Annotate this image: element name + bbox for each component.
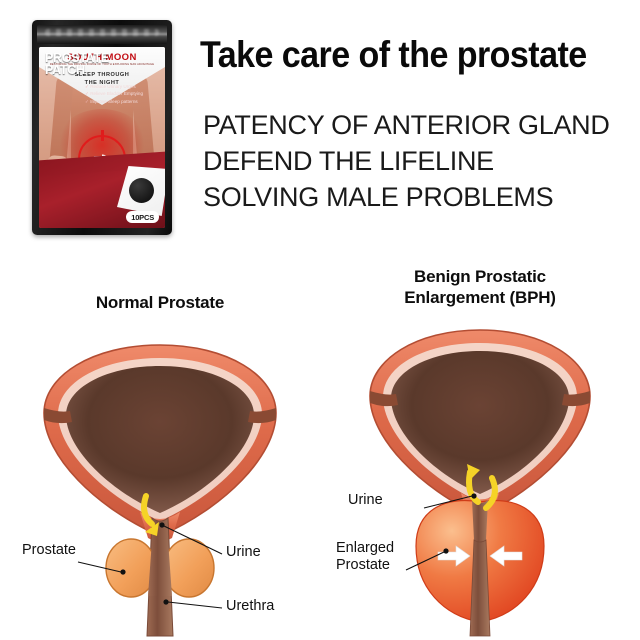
patch-medicated-dot <box>129 178 154 203</box>
package-front-artwork: SOUTH MOON RESTORING THE DRIVING FORCE O… <box>39 47 165 228</box>
benefit-item: Reduce Urinary Urges <box>85 83 143 91</box>
subheadline-line: PATENCY OF ANTERIOR GLAND <box>203 108 633 144</box>
page-title: Take care of the prostate <box>200 36 590 73</box>
subheadline-block: PATENCY OF ANTERIOR GLAND DEFEND THE LIF… <box>203 108 633 216</box>
subheadline-line: DEFEND THE LIFELINE <box>203 144 633 180</box>
product-package: SOUTH MOON RESTORING THE DRIVING FORCE O… <box>32 20 172 235</box>
benefit-item: Relieve Bladder Emptying <box>85 90 143 98</box>
package-zipper <box>37 25 167 44</box>
benefit-item: Improve Sleep patterns <box>85 98 143 106</box>
label-enlarged-line-1: Enlarged <box>336 540 394 557</box>
subheadline-line: SOLVING MALE PROBLEMS <box>203 180 633 216</box>
diagram-normal-prostate: Normal Prostate <box>0 250 320 640</box>
headline-block: Take care of the prostate <box>200 36 624 73</box>
crosshair-tick-top <box>101 130 104 141</box>
label-enlarged-line-2: Prostate <box>336 557 394 574</box>
benefit-list: Reduce Urinary Urges Relieve Bladder Emp… <box>45 83 143 107</box>
diagram-bph: Benign Prostatic Enlargement (BPH) <box>320 250 640 640</box>
bph-illustration <box>320 250 640 640</box>
header-section: SOUTH MOON RESTORING THE DRIVING FORCE O… <box>0 0 640 250</box>
label-prostate: Prostate <box>22 542 76 559</box>
label-enlarged-prostate: Enlarged Prostate <box>336 540 394 575</box>
label-urine: Urine <box>348 492 383 509</box>
count-badge: 10PCS <box>126 211 159 223</box>
label-urine: Urine <box>226 544 261 561</box>
product-name: PROSTATE PATCH <box>45 53 109 76</box>
label-urethra: Urethra <box>226 598 274 615</box>
product-name-line-2: PATCH <box>45 65 109 77</box>
normal-prostate-illustration <box>0 250 320 640</box>
anatomy-diagrams-section: Normal Prostate <box>0 250 640 640</box>
